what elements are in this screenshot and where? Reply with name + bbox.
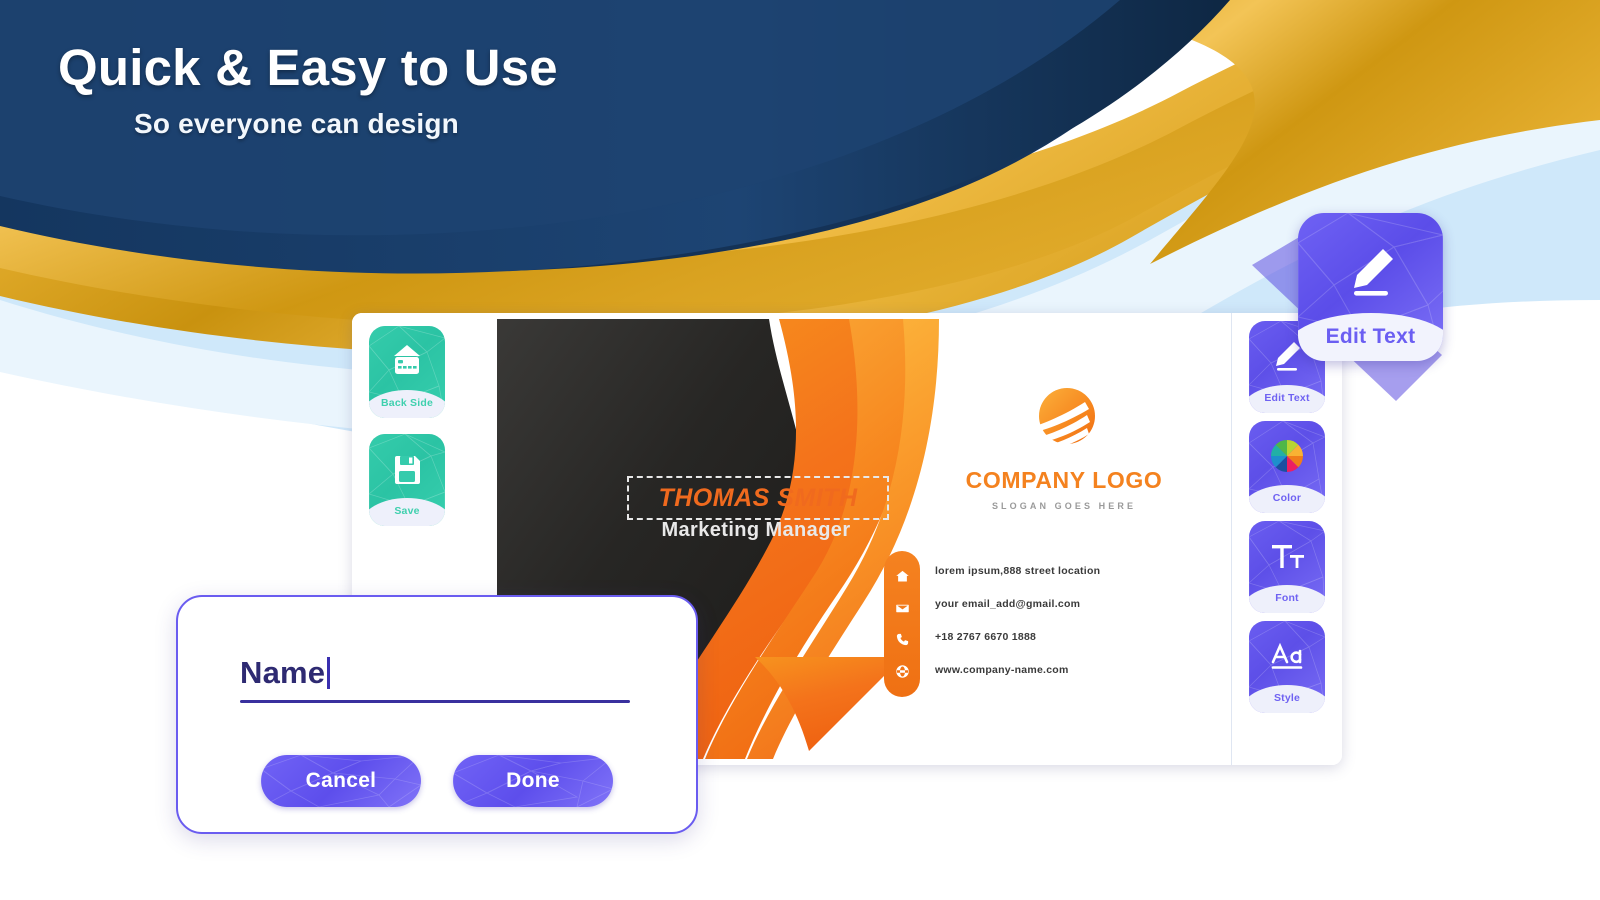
email-icon <box>895 601 910 616</box>
dialog-actions: Cancel Done <box>178 755 696 807</box>
card-logo-block[interactable]: COMPANY LOGO SLOGAN GOES HERE <box>949 381 1179 511</box>
input-underline <box>240 700 630 703</box>
company-logo-icon <box>1027 381 1101 455</box>
save-button[interactable]: Save <box>369 434 445 526</box>
contact-details: lorem ipsum,888 street location your ema… <box>935 555 1100 687</box>
app-screenshot: Quick & Easy to Use So everyone can desi… <box>0 0 1600 900</box>
contact-email[interactable]: your email_add@gmail.com <box>935 588 1100 621</box>
color-button[interactable]: Color <box>1249 421 1325 513</box>
selected-name-textbox[interactable]: THOMAS SMITH <box>627 476 889 520</box>
home-icon <box>895 569 910 584</box>
style-label: Style <box>1249 692 1325 704</box>
globe-icon <box>895 664 910 679</box>
font-label: Font <box>1249 592 1325 604</box>
edit-text-callout: Edit Text <box>1236 205 1466 420</box>
cancel-label: Cancel <box>306 769 377 792</box>
done-button[interactable]: Done <box>453 755 613 807</box>
font-size-icon <box>1267 536 1307 576</box>
save-label: Save <box>369 505 445 517</box>
phone-icon <box>895 632 910 647</box>
edit-text-callout-button[interactable]: Edit Text <box>1298 213 1443 361</box>
contact-phone[interactable]: +18 2767 6670 1888 <box>935 621 1100 654</box>
back-side-label: Back Side <box>369 397 445 409</box>
card-back-icon <box>387 341 427 381</box>
contact-icon-rail <box>884 551 920 697</box>
card-name: THOMAS SMITH <box>658 484 857 513</box>
name-input-dialog: Name Cancel <box>176 595 698 834</box>
card-role[interactable]: Marketing Manager <box>627 519 885 542</box>
font-button[interactable]: Font <box>1249 521 1325 613</box>
style-button[interactable]: Style <box>1249 621 1325 713</box>
text-caret <box>327 657 330 689</box>
color-label: Color <box>1249 492 1325 504</box>
name-input-field[interactable]: Name <box>240 652 630 703</box>
contact-address[interactable]: lorem ipsum,888 street location <box>935 555 1100 588</box>
done-label: Done <box>506 769 560 792</box>
name-input-value: Name <box>240 655 325 691</box>
contact-website[interactable]: www.company-name.com <box>935 654 1100 687</box>
text-style-icon <box>1267 636 1307 676</box>
cancel-button[interactable]: Cancel <box>261 755 421 807</box>
company-slogan: SLOGAN GOES HERE <box>949 501 1179 511</box>
floppy-disk-icon <box>387 449 427 489</box>
company-logo-name: COMPANY LOGO <box>949 467 1179 494</box>
color-wheel-icon <box>1267 436 1307 476</box>
name-input-value-row[interactable]: Name <box>240 652 630 694</box>
edit-text-callout-label: Edit Text <box>1298 325 1443 349</box>
back-side-button[interactable]: Back Side <box>369 326 445 418</box>
pencil-edit-icon <box>1339 241 1403 305</box>
